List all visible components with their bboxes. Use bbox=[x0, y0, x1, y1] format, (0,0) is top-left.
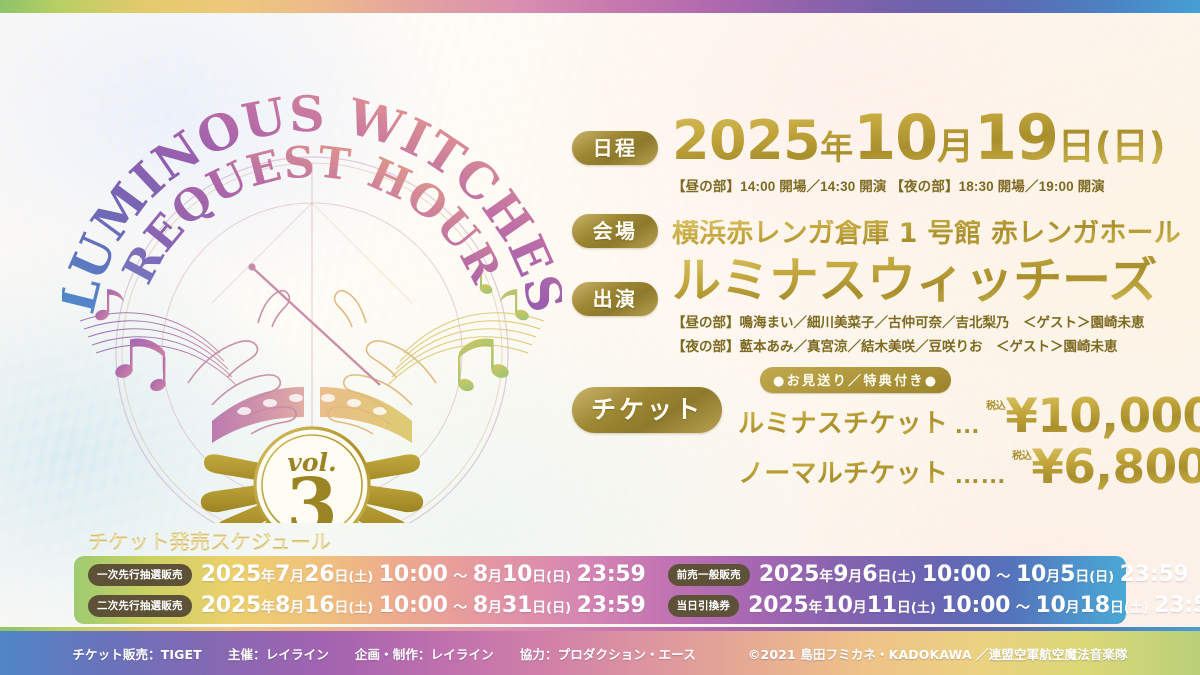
ticket-normal-tax-note: 税込 bbox=[1012, 447, 1031, 462]
schedule-row-second-lottery: 二次先行抽選販売 2025年8月16日(土) 10:00 ～ 8月31日(日) … bbox=[88, 593, 646, 618]
date-pill-label: 日程 bbox=[572, 131, 658, 165]
schedule-period-advance-general: 2025年9月6日(土) 10:00 ～ 10月5日(日) 23:59 bbox=[759, 562, 1189, 587]
bonus-bullet-left: ● bbox=[773, 374, 787, 389]
footer-copyright: ©2021 島田フミカネ・KADOKAWA ／連盟空軍航空魔法音楽隊 bbox=[748, 647, 1128, 662]
ticket-pill-label: チケット bbox=[572, 387, 722, 433]
ticket-luminous-currency: ¥ bbox=[1005, 389, 1037, 444]
schedule-period-same-day-voucher: 2025年10月11日(土) 10:00 ～ 10月18日(土) 23:59 bbox=[748, 593, 1200, 618]
venue-row: 会場 横浜赤レンガ倉庫 1 号館 赤レンガホール bbox=[572, 209, 1186, 248]
ticket-normal-label: ノーマルチケット bbox=[738, 453, 948, 490]
schedule-column-right: 前売一般販売 2025年9月6日(土) 10:00 ～ 10月5日(日) 23:… bbox=[668, 562, 1200, 618]
ticket-item-luminous: ルミナスチケット … 税込 ¥10,000 bbox=[738, 395, 1200, 440]
footer-planning: 企画・制作：レイライン bbox=[355, 647, 494, 662]
date-day-unit: 日 bbox=[1058, 125, 1095, 168]
footer-cooperation: 協力：プロダクション・エース bbox=[520, 647, 696, 662]
schedule-tag-second-lottery: 二次先行抽選販売 bbox=[88, 595, 192, 617]
volume-number: 3 bbox=[286, 463, 338, 523]
date-month-unit: 月 bbox=[937, 125, 974, 168]
venue-name: 横浜赤レンガ倉庫 1 号館 赤レンガホール bbox=[672, 220, 1181, 247]
schedule-title: チケット発売スケジュール bbox=[88, 526, 331, 555]
schedule-row-first-lottery: 一次先行抽選販売 2025年7月26日(土) 10:00 ～ 8月10日(日) … bbox=[88, 562, 646, 587]
ticket-normal-currency: ¥ bbox=[1031, 440, 1063, 495]
ticket-luminous-dots: … bbox=[954, 409, 980, 440]
schedule-band: 一次先行抽選販売 2025年7月26日(土) 10:00 ～ 8月10日(日) … bbox=[74, 556, 1126, 624]
date-row: 日程 2025年10月19日(日) 【昼の部】14:00 開場／14:30 開演… bbox=[572, 107, 1186, 195]
schedule-tag-same-day-voucher: 当日引換券 bbox=[668, 595, 740, 617]
rainbow-frame: vol. 3 LUMINOUS WITCHES REQUEST HOUR 日程 … bbox=[0, 0, 1200, 675]
bonus-badge-text: お見送り／特典付き bbox=[787, 374, 925, 389]
date-year-unit: 年 bbox=[820, 128, 853, 167]
ticket-normal-price: ¥6,800 bbox=[1031, 446, 1200, 491]
date-headline: 2025年10月19日(日) bbox=[672, 107, 1166, 169]
schedule-row-advance-general: 前売一般販売 2025年9月6日(土) 10:00 ～ 10月5日(日) 23:… bbox=[668, 562, 1200, 587]
venue-pill-label: 会場 bbox=[572, 214, 658, 248]
cast-pill-label: 出演 bbox=[572, 282, 658, 316]
schedule-row-same-day-voucher: 当日引換券 2025年10月11日(土) 10:00 ～ 10月18日(土) 2… bbox=[668, 593, 1200, 618]
date-month: 10 bbox=[853, 101, 937, 174]
schedule-period-first-lottery: 2025年7月26日(土) 10:00 ～ 8月10日(日) 23:59 bbox=[201, 562, 646, 587]
ticket-luminous-label: ルミナスチケット bbox=[738, 403, 948, 440]
cast-night-part: 【夜の部】藍本あみ／真宮涼／結木美咲／豆咲りお ＜ゲスト＞園崎未恵 bbox=[672, 335, 1157, 355]
cast-group-name: ルミナスウィッチーズ bbox=[672, 256, 1157, 305]
ticket-luminous-tax-note: 税込 bbox=[986, 397, 1005, 412]
bonus-badge: ●お見送り／特典付き● bbox=[760, 367, 951, 393]
ticket-normal-amount: 6,800 bbox=[1063, 440, 1200, 495]
cast-day-part: 【昼の部】鳴海まい／細川美菜子／古仲可奈／吉北梨乃 ＜ゲスト＞園崎未恵 bbox=[672, 311, 1157, 331]
footer-credits-line: チケット販売：TIGET主催：レイライン企画・制作：レイライン協力：プロダクショ… bbox=[72, 644, 1127, 663]
bonus-bullet-right: ● bbox=[925, 374, 939, 389]
schedule-period-second-lottery: 2025年8月16日(土) 10:00 ～ 8月31日(日) 23:59 bbox=[201, 593, 646, 618]
footer-credits-bar: チケット販売：TIGET主催：レイライン企画・制作：レイライン協力：プロダクショ… bbox=[0, 631, 1200, 675]
schedule-tag-first-lottery: 一次先行抽選販売 bbox=[88, 564, 192, 586]
ticket-item-normal: ノーマルチケット …… 税込 ¥6,800 bbox=[738, 446, 1200, 491]
footer-seller: チケット販売：TIGET bbox=[72, 647, 202, 662]
schedule-column-left: 一次先行抽選販売 2025年7月26日(土) 10:00 ～ 8月10日(日) … bbox=[88, 562, 646, 618]
poster-stage: vol. 3 LUMINOUS WITCHES REQUEST HOUR 日程 … bbox=[0, 13, 1200, 627]
schedule-tag-advance-general: 前売一般販売 bbox=[668, 564, 750, 586]
date-weekday: (日) bbox=[1095, 125, 1166, 168]
cast-row: 出演 ルミナスウィッチーズ 【昼の部】鳴海まい／細川美菜子／古仲可奈／吉北梨乃 … bbox=[572, 256, 1186, 355]
ticket-luminous-amount: 10,000 bbox=[1037, 389, 1200, 444]
date-day: 19 bbox=[974, 101, 1058, 174]
luminous-witches-logo: vol. 3 LUMINOUS WITCHES REQUEST HOUR bbox=[62, 53, 562, 523]
footer-organizer: 主催：レイライン bbox=[228, 647, 329, 662]
ticket-luminous-price: ¥10,000 bbox=[1005, 395, 1200, 440]
ticket-row: チケット ●お見送り／特典付き● ルミナスチケット … 税込 ¥10,000 bbox=[572, 367, 1186, 490]
date-year: 2025 bbox=[672, 109, 820, 172]
event-info-panel: 日程 2025年10月19日(日) 【昼の部】14:00 開場／14:30 開演… bbox=[572, 109, 1186, 490]
ticket-normal-dots: …… bbox=[954, 459, 1006, 490]
date-showtimes: 【昼の部】14:00 開場／14:30 開演 【夜の部】18:30 開場／19:… bbox=[672, 175, 1166, 195]
